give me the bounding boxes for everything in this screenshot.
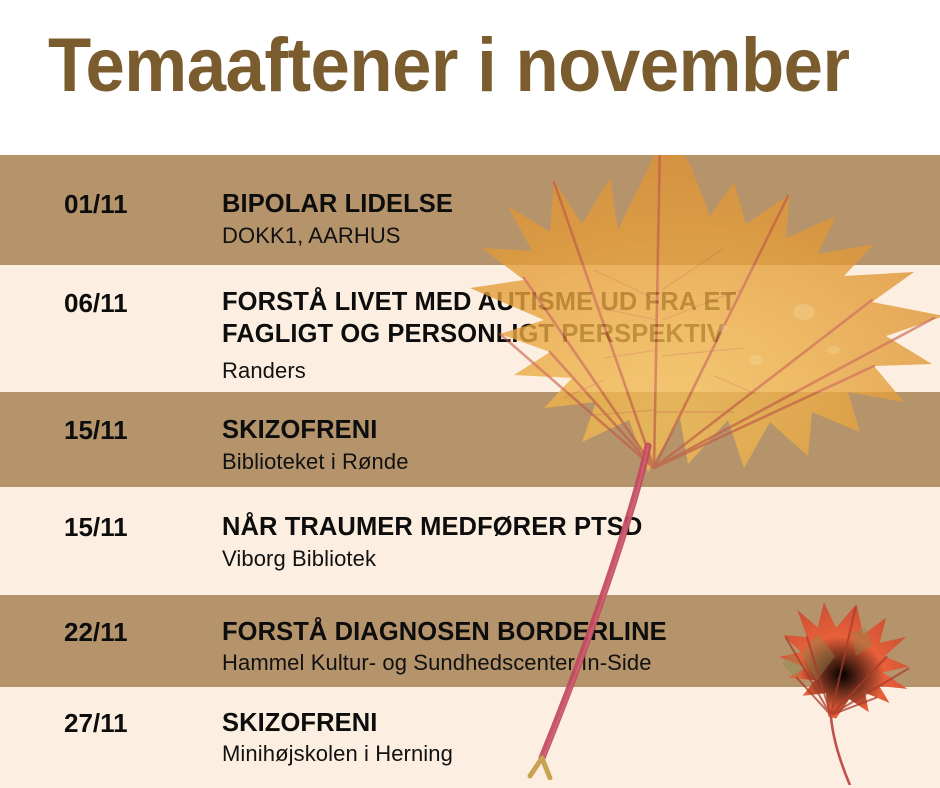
event-date: 27/11: [64, 708, 128, 739]
event-heading: NÅR TRAUMER MEDFØRER PTSD: [222, 511, 922, 543]
event-venue: DOKK1, AARHUS: [222, 223, 922, 249]
event-row: 01/11 BIPOLAR LIDELSE DOKK1, AARHUS: [0, 155, 940, 265]
poster-canvas: 01/11 BIPOLAR LIDELSE DOKK1, AARHUS 06/1…: [0, 0, 940, 788]
event-venue: Biblioteket i Rønde: [222, 449, 922, 475]
title-bar: Temaaftener i november: [0, 0, 940, 155]
event-date: 22/11: [64, 617, 128, 648]
event-venue: Minihøjskolen i Herning: [222, 741, 922, 767]
event-date: 15/11: [64, 512, 128, 543]
event-row: 27/11 SKIZOFRENI Minihøjskolen i Herning: [0, 687, 940, 788]
event-row: 15/11 NÅR TRAUMER MEDFØRER PTSD Viborg B…: [0, 487, 940, 595]
event-date: 06/11: [64, 288, 128, 319]
event-date: 15/11: [64, 415, 128, 446]
event-venue: Viborg Bibliotek: [222, 546, 922, 572]
event-row: 15/11 SKIZOFRENI Biblioteket i Rønde: [0, 392, 940, 487]
event-heading: SKIZOFRENI: [222, 707, 922, 739]
event-row: 06/11 FORSTÅ LIVET MED AUTISME UD FRA ET…: [0, 265, 940, 392]
event-date: 01/11: [64, 189, 128, 220]
event-venue: Randers: [222, 358, 922, 384]
event-heading: FORSTÅ LIVET MED AUTISME UD FRA ET FAGLI…: [222, 286, 822, 350]
event-heading: SKIZOFRENI: [222, 414, 922, 446]
page-title: Temaaftener i november: [48, 26, 850, 106]
event-heading: FORSTÅ DIAGNOSEN BORDERLINE: [222, 616, 922, 648]
event-venue: Hammel Kultur- og Sundhedscenter In-Side: [222, 650, 922, 676]
event-heading: BIPOLAR LIDELSE: [222, 188, 922, 220]
event-row: 22/11 FORSTÅ DIAGNOSEN BORDERLINE Hammel…: [0, 595, 940, 687]
